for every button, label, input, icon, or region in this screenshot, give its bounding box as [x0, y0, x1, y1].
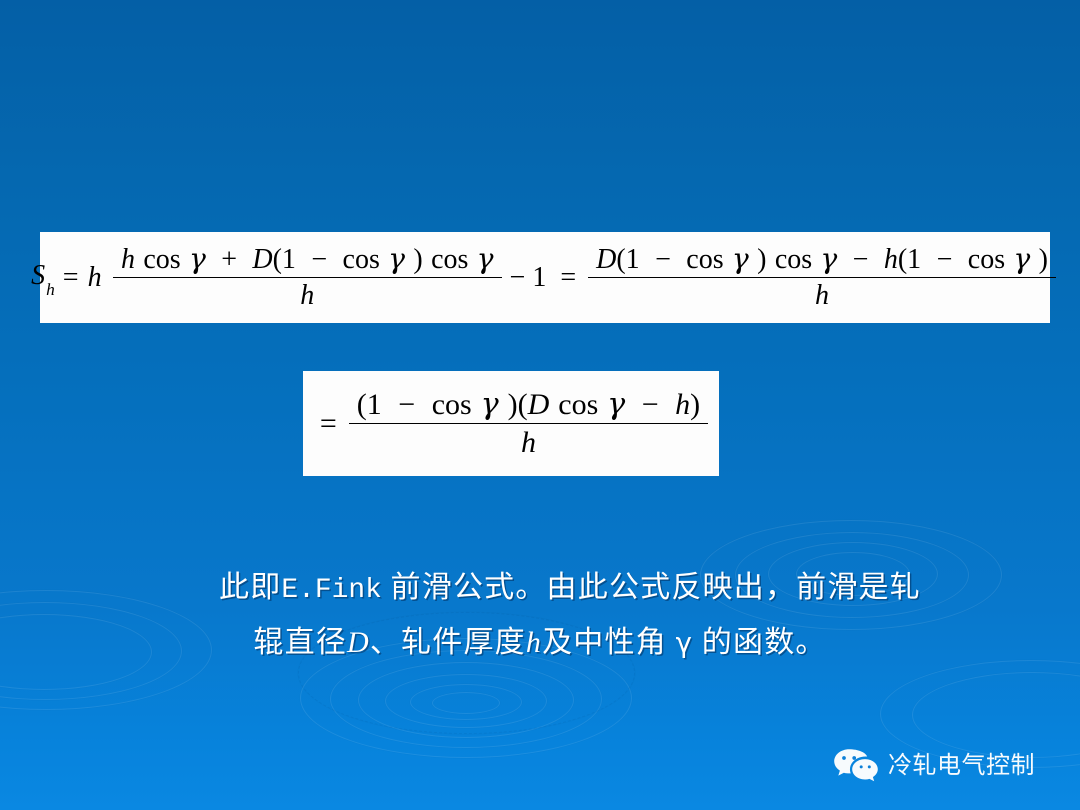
line2-segment-a: 辊直径	[253, 626, 347, 659]
line1-suffix: 前滑公式。由此公式反映出，前滑是轧	[382, 571, 921, 604]
fraction-3: (1−cosγ)(Dcosγ−h) h	[349, 390, 708, 458]
body-text-line-2: 辊直径D、轧件厚度h及中性角 γ 的函数。	[0, 617, 1080, 669]
line2-variable-h: h	[526, 626, 542, 659]
fraction-3-numerator: (1−cosγ)(Dcosγ−h)	[349, 390, 708, 424]
body-text-block: 此即E.Fink 前滑公式。由此公式反映出，前滑是轧 辊直径D、轧件厚度h及中性…	[0, 562, 1080, 669]
body-text-line-1: 此即E.Fink 前滑公式。由此公式反映出，前滑是轧	[0, 562, 1080, 617]
fraction-2-numerator: D(1−cosγ)cosγ−h(1−cosγ)	[588, 245, 1056, 278]
formula-box-primary: Sh = h hcosγ+D(1−cosγ)cosγ h − 1 = D(1−c…	[40, 232, 1050, 323]
fraction-2: D(1−cosγ)cosγ−h(1−cosγ) h	[588, 245, 1056, 310]
line2-segment-c: 及中性角	[542, 626, 676, 659]
line2-variable-D: D	[347, 626, 370, 659]
fraction-1-numerator: hcosγ+D(1−cosγ)cosγ	[113, 245, 502, 278]
equals-sign-3: =	[320, 409, 337, 439]
formula-secondary-expression: = (1−cosγ)(Dcosγ−h) h	[311, 390, 711, 458]
wechat-icon	[833, 748, 879, 782]
line1-prefix: 此即	[219, 571, 281, 604]
fraction-1-denominator: h	[292, 278, 322, 310]
line2-segment-b: 、轧件厚度	[370, 626, 526, 659]
fraction-2-denominator: h	[807, 278, 837, 310]
line2-segment-d: 的函数。	[693, 626, 827, 659]
line1-latin-name: E.Fink	[281, 575, 381, 606]
subscript-h: h	[46, 280, 55, 299]
equals-sign-2: =	[560, 264, 576, 292]
equals-sign-1: =	[63, 264, 79, 292]
formula-primary-expression: Sh = h hcosγ+D(1−cosγ)cosγ h − 1 = D(1−c…	[31, 245, 1059, 310]
line2-variable-gamma: γ	[676, 626, 694, 659]
watermark: 冷轧电气控制	[833, 748, 1035, 782]
watermark-label: 冷轧电气控制	[888, 753, 1035, 777]
formula-lhs: Sh	[31, 262, 54, 294]
fraction-1: hcosγ+D(1−cosγ)cosγ h	[113, 245, 502, 310]
leading-factor-h: h	[88, 264, 102, 292]
formula-box-secondary: = (1−cosγ)(Dcosγ−h) h	[303, 371, 719, 476]
symbol-S: S	[31, 260, 45, 291]
slide-canvas: Sh = h hcosγ+D(1−cosγ)cosγ h − 1 = D(1−c…	[0, 0, 1080, 810]
minus-one-term: − 1	[510, 264, 547, 292]
fraction-3-denominator: h	[513, 424, 544, 458]
